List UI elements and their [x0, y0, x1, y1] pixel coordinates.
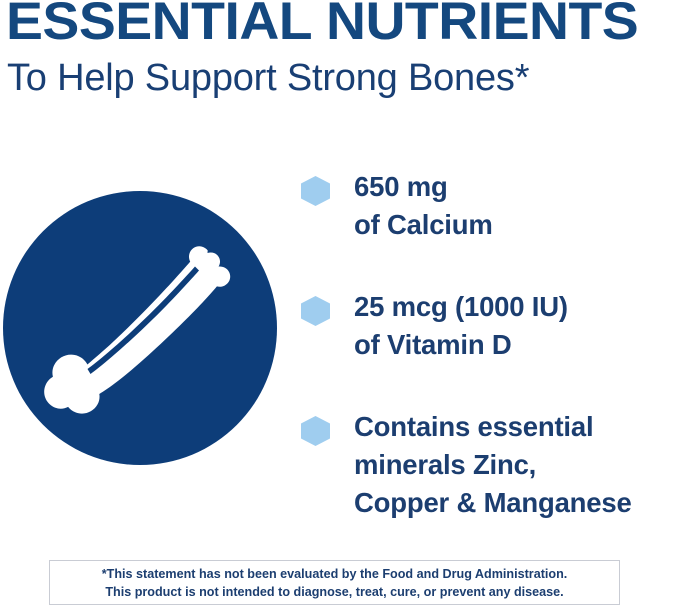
- list-item: Contains essential minerals Zinc, Copper…: [301, 408, 679, 522]
- hexagon-bullet-icon: [301, 176, 330, 206]
- page-subtitle: To Help Support Strong Bones*: [7, 59, 675, 99]
- list-item-line: 650 mg: [354, 168, 679, 206]
- bone-icon: [3, 191, 277, 465]
- list-item-text: Contains essential minerals Zinc, Copper…: [354, 408, 679, 522]
- list-item-line: minerals Zinc,: [354, 446, 679, 484]
- list-item-line: of Calcium: [354, 206, 679, 244]
- hexagon-bullet-icon: [301, 296, 330, 326]
- list-item: 25 mcg (1000 IU) of Vitamin D: [301, 288, 679, 364]
- list-item-text: 650 mg of Calcium: [354, 168, 679, 244]
- bone-badge-circle: [3, 191, 277, 465]
- list-item-line: 25 mcg (1000 IU): [354, 288, 679, 326]
- page-title: ESSENTIAL NUTRIENTS: [6, 0, 679, 48]
- list-item: 650 mg of Calcium: [301, 168, 679, 244]
- list-item-line: of Vitamin D: [354, 326, 679, 364]
- list-item-line: Copper & Manganese: [354, 484, 679, 522]
- nutrition-info-panel: ESSENTIAL NUTRIENTS To Help Support Stro…: [0, 0, 679, 609]
- list-item-text: 25 mcg (1000 IU) of Vitamin D: [354, 288, 679, 364]
- hexagon-bullet-icon: [301, 416, 330, 446]
- disclaimer-box: *This statement has not been evaluated b…: [49, 560, 620, 605]
- disclaimer-line-2: This product is not intended to diagnose…: [105, 583, 563, 601]
- nutrient-list: 650 mg of Calcium 25 mcg (1000 IU) of Vi…: [301, 168, 679, 522]
- list-item-line: Contains essential: [354, 408, 679, 446]
- disclaimer-line-1: *This statement has not been evaluated b…: [102, 565, 568, 583]
